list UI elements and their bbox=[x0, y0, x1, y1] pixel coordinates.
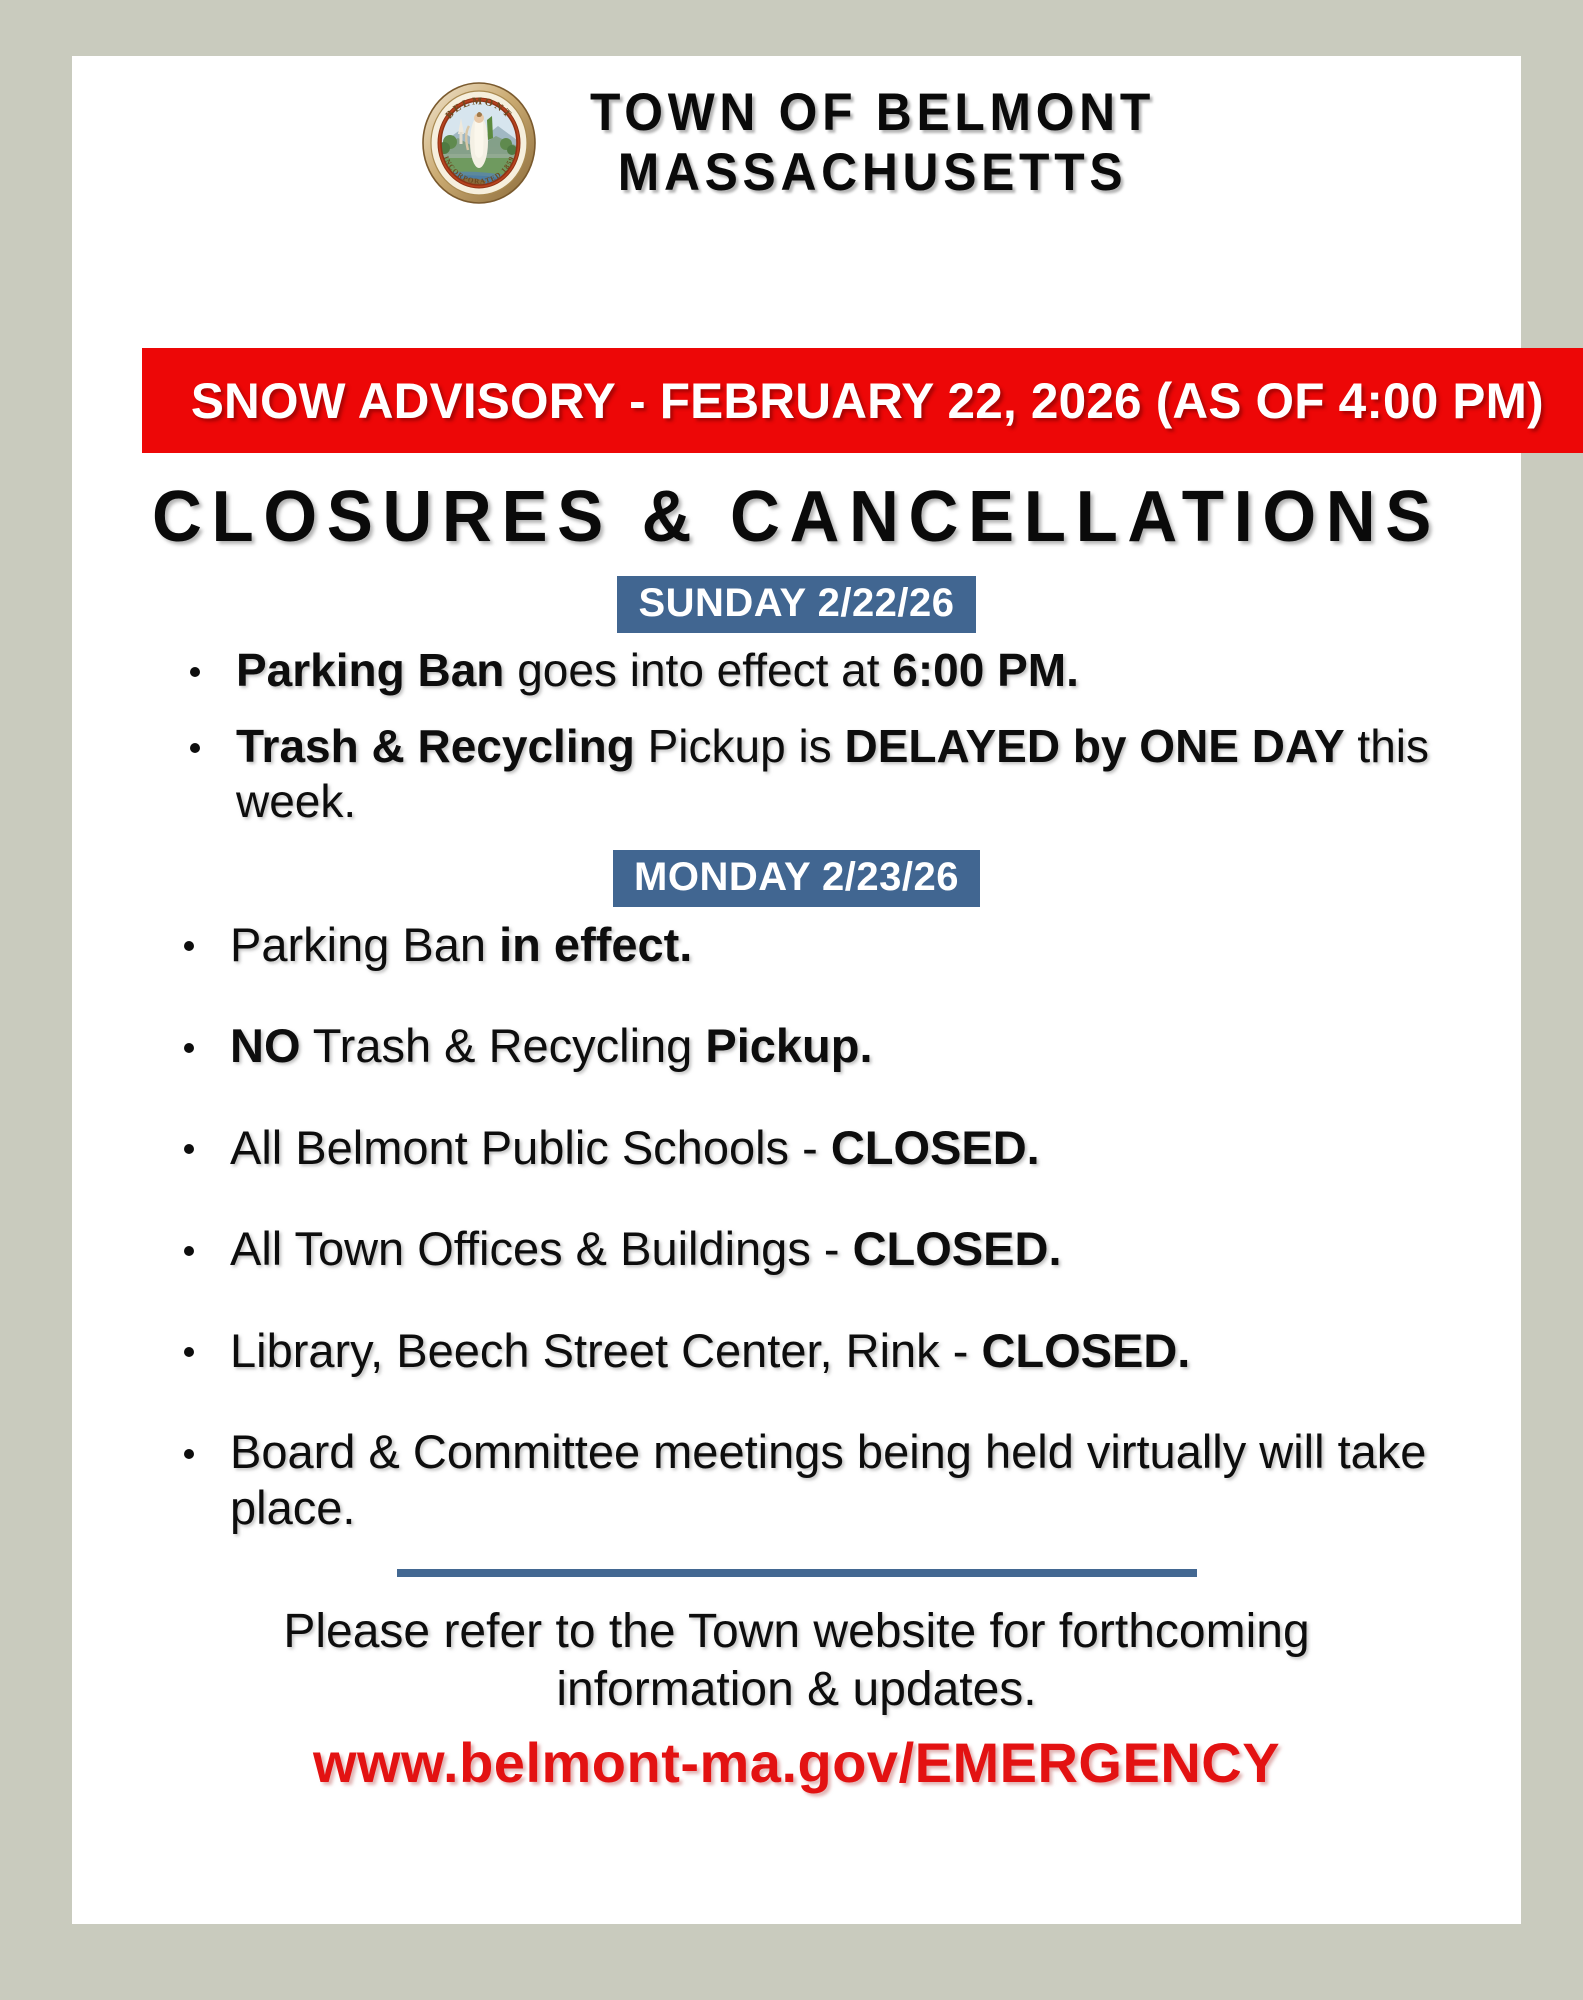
emergency-url-link[interactable]: www.belmont-ma.gov/EMERGENCY bbox=[72, 1730, 1521, 1795]
list-item: Trash & Recycling Pickup is DELAYED by O… bbox=[190, 719, 1521, 828]
closures-heading: CLOSURES & CANCELLATIONS bbox=[101, 476, 1492, 558]
list-item: Parking Ban in effect. bbox=[184, 917, 1521, 972]
section-divider bbox=[397, 1569, 1197, 1577]
closure-group-1: MONDAY 2/23/26Parking Ban in effect.NO T… bbox=[72, 850, 1521, 1535]
bullet-dot-icon bbox=[190, 667, 200, 677]
advisory-card: BELMONT INCORPORATED 1859 TOWN OF BELMON… bbox=[72, 56, 1521, 1924]
body-text: All Town Offices & Buildings - bbox=[230, 1222, 853, 1275]
snow-advisory-banner: SNOW ADVISORY - FEBRUARY 22, 2026 (AS OF… bbox=[142, 348, 1583, 453]
emphasis-text: Parking Ban bbox=[236, 644, 504, 696]
list-item: Library, Beech Street Center, Rink - CLO… bbox=[184, 1323, 1521, 1378]
bullet-dot-icon bbox=[184, 1347, 194, 1357]
advisory-banner-text: SNOW ADVISORY - FEBRUARY 22, 2026 (AS OF… bbox=[191, 372, 1544, 430]
list-item: All Town Offices & Buildings - CLOSED. bbox=[184, 1221, 1521, 1276]
bullet-dot-icon bbox=[184, 1144, 194, 1154]
emphasis-text: CLOSED. bbox=[831, 1121, 1040, 1174]
closure-group-0: SUNDAY 2/22/26Parking Ban goes into effe… bbox=[72, 576, 1521, 828]
bullet-dot-icon bbox=[184, 1043, 194, 1053]
day-badge: MONDAY 2/23/26 bbox=[613, 850, 980, 907]
poster-header: BELMONT INCORPORATED 1859 TOWN OF BELMON… bbox=[72, 56, 1521, 229]
closure-groups: SUNDAY 2/22/26Parking Ban goes into effe… bbox=[72, 576, 1521, 1535]
emphasis-text: Pickup. bbox=[705, 1019, 872, 1072]
bullet-dot-icon bbox=[184, 941, 194, 951]
list-item: Parking Ban goes into effect at 6:00 PM. bbox=[190, 643, 1521, 697]
emphasis-text: 6:00 PM. bbox=[892, 644, 1079, 696]
closure-list: Parking Ban goes into effect at 6:00 PM.… bbox=[72, 643, 1521, 828]
closure-list: Parking Ban in effect.NO Trash & Recycli… bbox=[72, 917, 1521, 1535]
bullet-dot-icon bbox=[190, 743, 200, 753]
day-badge: SUNDAY 2/22/26 bbox=[617, 576, 975, 633]
advisory-body: CLOSURES & CANCELLATIONS SUNDAY 2/22/26P… bbox=[72, 476, 1521, 1795]
list-item: NO Trash & Recycling Pickup. bbox=[184, 1018, 1521, 1073]
list-item: Board & Committee meetings being held vi… bbox=[184, 1424, 1521, 1535]
body-text: All Belmont Public Schools - bbox=[230, 1121, 831, 1174]
page-title: TOWN OF BELMONT MASSACHUSETTS bbox=[590, 83, 1155, 202]
body-text: Library, Beech Street Center, Rink - bbox=[230, 1324, 981, 1377]
footer-note: Please refer to the Town website for for… bbox=[267, 1603, 1327, 1718]
body-text: Parking Ban bbox=[230, 918, 499, 971]
poster-canvas: BELMONT INCORPORATED 1859 TOWN OF BELMON… bbox=[0, 0, 1583, 2000]
town-seal-icon: BELMONT INCORPORATED 1859 bbox=[420, 82, 538, 204]
emphasis-text: Trash & Recycling bbox=[236, 720, 635, 772]
bullet-dot-icon bbox=[184, 1449, 194, 1459]
body-text: Pickup is bbox=[635, 720, 845, 772]
emphasis-text: NO bbox=[230, 1019, 301, 1072]
list-item: All Belmont Public Schools - CLOSED. bbox=[184, 1120, 1521, 1175]
day-badge-row: MONDAY 2/23/26 bbox=[72, 850, 1521, 907]
emphasis-text: CLOSED. bbox=[853, 1222, 1062, 1275]
emphasis-text: DELAYED by ONE DAY bbox=[844, 720, 1344, 772]
bullet-dot-icon bbox=[184, 1246, 194, 1256]
body-text: Trash & Recycling bbox=[301, 1019, 706, 1072]
body-text: Board & Committee meetings being held vi… bbox=[230, 1425, 1426, 1533]
body-text: goes into effect at bbox=[504, 644, 892, 696]
emphasis-text: in effect. bbox=[499, 918, 692, 971]
day-badge-row: SUNDAY 2/22/26 bbox=[72, 576, 1521, 633]
emphasis-text: CLOSED. bbox=[981, 1324, 1190, 1377]
